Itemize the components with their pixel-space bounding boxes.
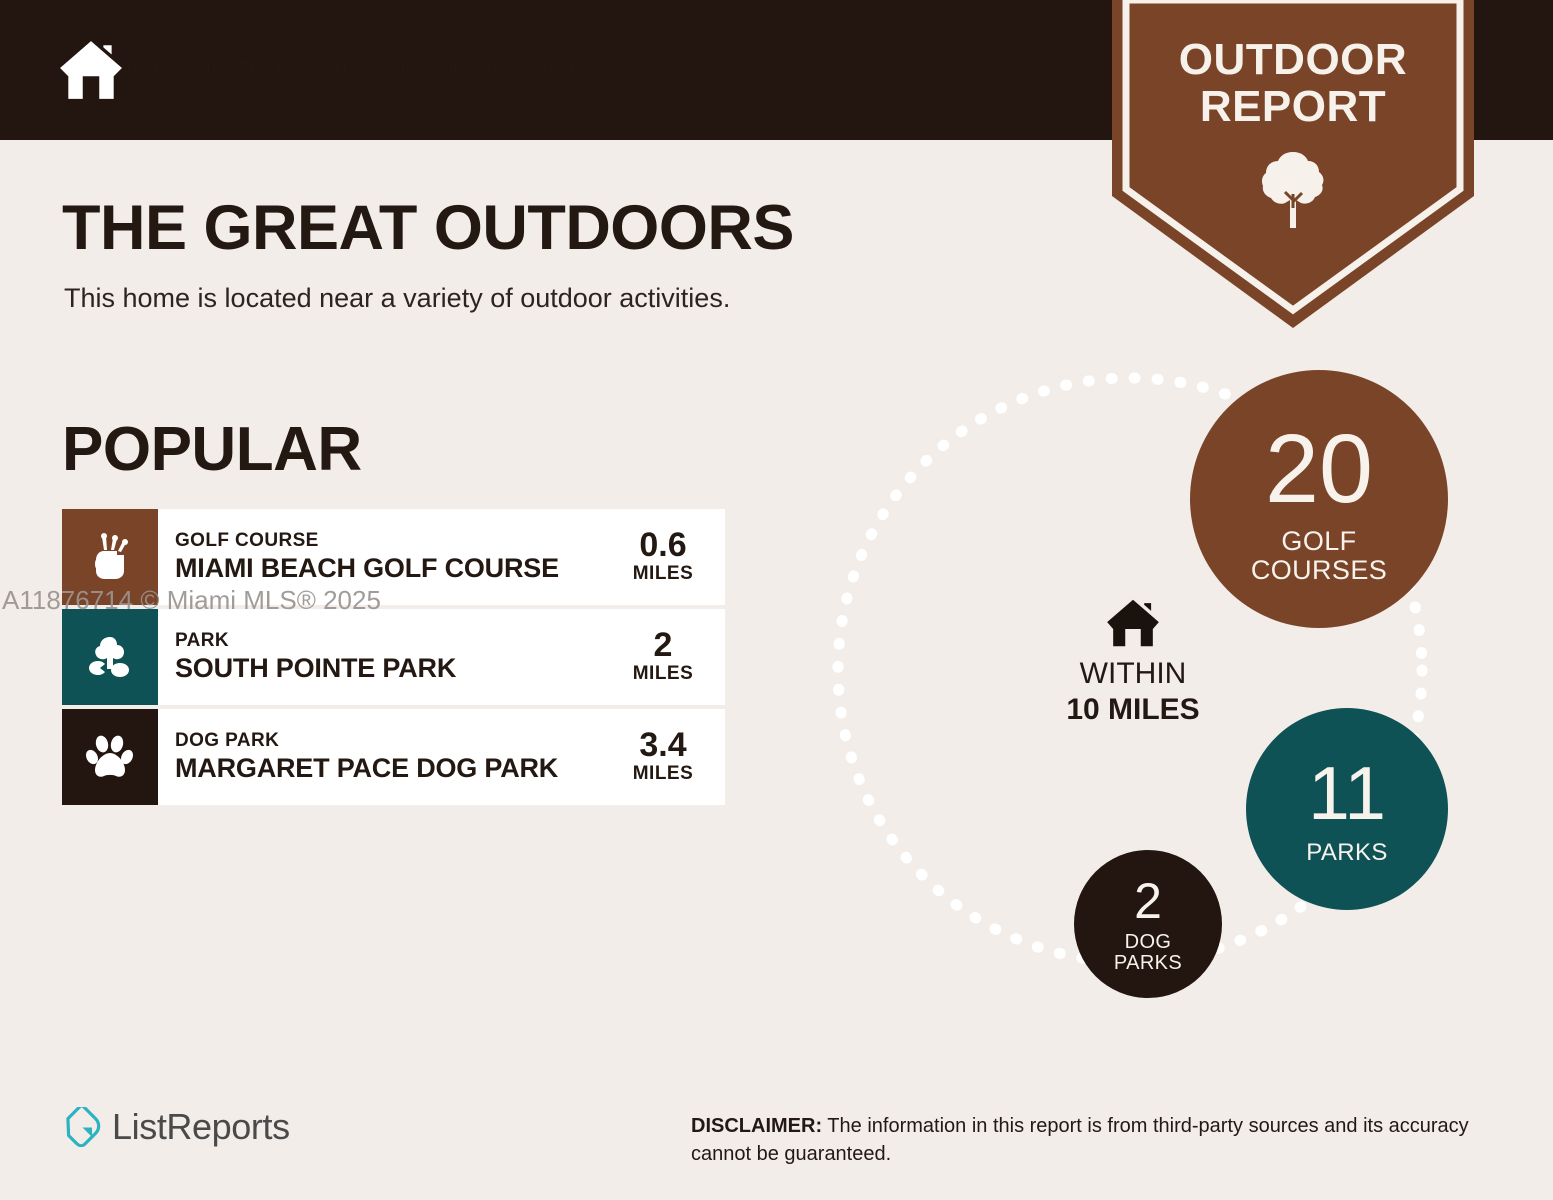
diagram-center-line1: WITHIN	[1038, 656, 1228, 692]
stat-circle-parks: 11 PARKS	[1246, 708, 1448, 910]
disclaimer-label: DISCLAIMER:	[691, 1115, 822, 1137]
poi-distance-unit: MILES	[633, 562, 694, 586]
stat-label: PARKS	[1306, 840, 1388, 865]
poi-text: GOLF COURSE MIAMI BEACH GOLF COURSE	[158, 509, 607, 605]
poi-distance: 3.4 MILES	[607, 709, 725, 805]
stat-value: 11	[1308, 756, 1386, 831]
listreports-house-icon	[62, 1107, 102, 1147]
listreports-logo[interactable]: ListReports	[62, 1106, 290, 1148]
poi-name: MARGARET PACE DOG PARK	[175, 752, 607, 785]
outdoor-report-badge: OUTDOOR REPORT	[1112, 0, 1474, 328]
poi-distance-value: 2	[654, 628, 673, 662]
poi-category: GOLF COURSE	[175, 529, 607, 552]
paw-print-icon	[84, 731, 136, 783]
stat-circle-dog-parks: 2 DOG PARKS	[1074, 850, 1222, 998]
poi-category: PARK	[175, 629, 607, 652]
poi-icon-box	[62, 609, 158, 705]
poi-distance-unit: MILES	[633, 762, 694, 786]
poi-icon-box	[62, 509, 158, 605]
list-item[interactable]: GOLF COURSE MIAMI BEACH GOLF COURSE 0.6 …	[62, 509, 725, 605]
stat-label: GOLF COURSES	[1251, 527, 1387, 584]
stat-label-line1: PARKS	[1306, 840, 1388, 865]
home-icon	[58, 37, 124, 103]
disclaimer: DISCLAIMER: The information in this repo…	[691, 1112, 1491, 1168]
within-10-miles-diagram: 20 GOLF COURSES 11 PARKS 2 DOG PARKS WIT…	[800, 340, 1500, 1040]
diagram-center-label: WITHIN 10 MILES	[1038, 598, 1228, 728]
stat-value: 20	[1265, 420, 1373, 517]
park-trees-icon	[84, 631, 136, 683]
poi-text: PARK SOUTH POINTE PARK	[158, 609, 607, 705]
golf-bag-icon	[84, 531, 136, 583]
poi-category: DOG PARK	[175, 729, 607, 752]
poi-name: MIAMI BEACH GOLF COURSE	[175, 552, 607, 585]
listreports-logo-text: ListReports	[112, 1106, 290, 1148]
tree-icon	[1259, 150, 1327, 228]
list-item[interactable]: PARK SOUTH POINTE PARK 2 MILES	[62, 609, 725, 705]
stat-label-line1: GOLF	[1251, 527, 1387, 555]
stat-label-line1: DOG	[1114, 932, 1182, 953]
poi-distance: 2 MILES	[607, 609, 725, 705]
popular-list: GOLF COURSE MIAMI BEACH GOLF COURSE 0.6 …	[62, 509, 725, 809]
page-title: THE GREAT OUTDOORS	[62, 192, 794, 264]
header-address: 1881 WASHINGTON AVE UNIT 15C, MIAMI BEAC…	[124, 61, 574, 79]
poi-distance-unit: MILES	[633, 662, 694, 686]
list-item[interactable]: DOG PARK MARGARET PACE DOG PARK 3.4 MILE…	[62, 709, 725, 805]
poi-distance-value: 0.6	[639, 528, 686, 562]
page-subtitle: This home is located near a variety of o…	[64, 283, 730, 314]
stat-label-line2: COURSES	[1251, 556, 1387, 584]
poi-icon-box	[62, 709, 158, 805]
poi-distance-value: 3.4	[639, 728, 686, 762]
stat-label-line2: PARKS	[1114, 953, 1182, 974]
stat-value: 2	[1134, 876, 1162, 926]
poi-text: DOG PARK MARGARET PACE DOG PARK	[158, 709, 607, 805]
home-icon	[1105, 598, 1161, 648]
diagram-center-line2: 10 MILES	[1038, 692, 1228, 728]
stat-label: DOG PARKS	[1114, 932, 1182, 974]
stat-circle-golf-courses: 20 GOLF COURSES	[1190, 370, 1448, 628]
poi-distance: 0.6 MILES	[607, 509, 725, 605]
poi-name: SOUTH POINTE PARK	[175, 652, 607, 685]
popular-section-title: POPULAR	[62, 414, 362, 485]
